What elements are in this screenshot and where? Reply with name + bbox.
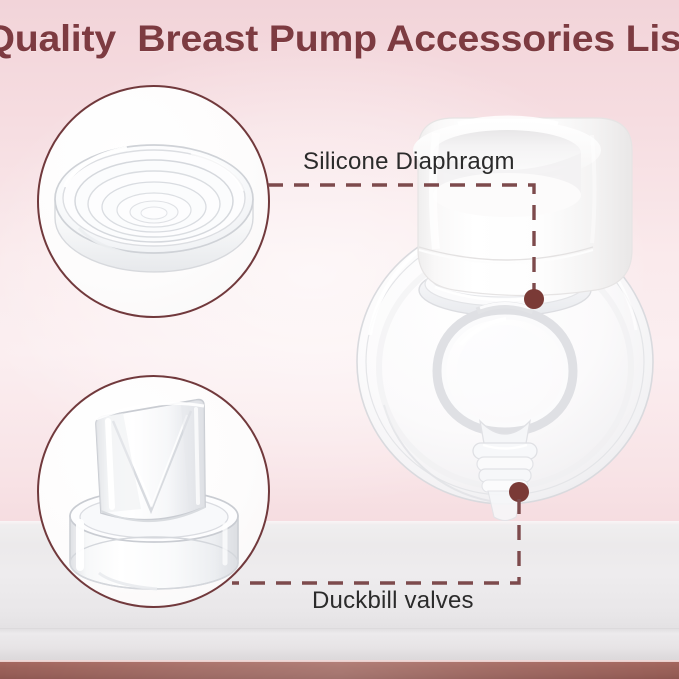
callout-circle-duckbill-valve [37, 375, 270, 608]
table-base-sheen [0, 662, 679, 679]
table-front-edge [0, 629, 679, 662]
motor-cap [413, 118, 632, 296]
product-infographic-poster: Quality Breast Pump Accessories List [0, 0, 679, 679]
callout-label-silicone-diaphragm: Silicone Diaphragm [303, 148, 515, 176]
page-title: Quality Breast Pump Accessories List [0, 18, 679, 60]
callout-label-duckbill-valves: Duckbill valves [312, 587, 474, 615]
duckbill-valve-nozzle [473, 421, 537, 521]
callout-circle-silicone-diaphragm [37, 85, 270, 318]
duckbill-valve-illustration [39, 377, 268, 606]
silicone-diaphragm-illustration [39, 87, 268, 316]
